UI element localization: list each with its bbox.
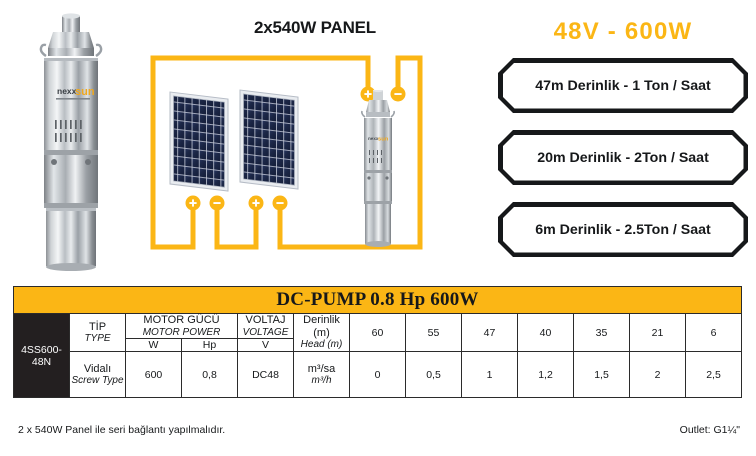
diagram-pump-illustration: nexx sun (358, 90, 398, 250)
flow-value-1: 0 (350, 352, 406, 398)
flow-value-2: 0,5 (406, 352, 462, 398)
spec-table-wrap: DC-PUMP 0.8 Hp 600W 4SS600-48N TİP TYPE … (13, 286, 742, 398)
head-value-4: 40 (518, 314, 574, 352)
svg-text:nexx: nexx (57, 86, 77, 96)
row-type-en: Screw Type (70, 375, 125, 387)
col-head-tr: Derinlik (m) (294, 314, 349, 339)
spec-badge-2: 20m Derinlik - 2Ton / Saat (498, 130, 748, 185)
head-value-6: 21 (630, 314, 686, 352)
head-value-3: 47 (462, 314, 518, 352)
flow-value-7: 2,5 (686, 352, 742, 398)
poster-root: nexx sun 2x540W (0, 0, 756, 456)
footer-outlet: Outlet: G1¼" (680, 424, 740, 436)
spec-badge-3: 6m Derinlik - 2.5Ton / Saat (498, 202, 748, 257)
value-hp: 0,8 (182, 352, 238, 398)
flow-unit-tr: m³/sa (294, 363, 349, 376)
col-voltage-en: VOLTAGE (238, 327, 293, 339)
footer: 2 x 540W Panel ile seri bağlantı yapılma… (13, 424, 742, 444)
head-value-5: 35 (574, 314, 630, 352)
solar-panel-pair (168, 88, 308, 203)
svg-text:sun: sun (75, 86, 95, 98)
spec-table: DC-PUMP 0.8 Hp 600W 4SS600-48N TİP TYPE … (13, 286, 742, 398)
flow-unit: m³/sa m³/h (294, 352, 350, 398)
head-value-2: 55 (406, 314, 462, 352)
wiring-diagram: 2x540W PANEL (130, 0, 500, 272)
flow-value-6: 2 (630, 352, 686, 398)
unit-watt: W (126, 339, 182, 352)
col-voltage-tr: VOLTAJ (238, 314, 293, 327)
row-type: Vidalı Screw Type (70, 352, 126, 398)
head-value-1: 60 (350, 314, 406, 352)
col-type: TİP TYPE (70, 314, 126, 352)
col-motor-en: MOTOR POWER (126, 327, 237, 339)
spec-badge-1: 47m Derinlik - 1 Ton / Saat (498, 58, 748, 113)
spec-badge-2-label: 20m Derinlik - 2Ton / Saat (503, 135, 744, 181)
value-watt: 600 (126, 352, 182, 398)
col-motor-tr: MOTOR GÜCÜ (126, 314, 237, 327)
col-type-en: TYPE (70, 333, 125, 345)
value-voltage: DC48 (238, 352, 294, 398)
model-code: 4SS600-48N (14, 314, 70, 398)
col-motor-power: MOTOR GÜCÜ MOTOR POWER (126, 314, 238, 339)
col-voltage: VOLTAJ VOLTAGE (238, 314, 294, 339)
table-row-headings: 4SS600-48N TİP TYPE MOTOR GÜCÜ MOTOR POW… (14, 314, 742, 339)
spec-badge-1-label: 47m Derinlik - 1 Ton / Saat (503, 63, 744, 109)
spec-panel: 48V - 600W 47m Derinlik - 1 Ton / Saat 2… (492, 0, 754, 272)
flow-value-5: 1,5 (574, 352, 630, 398)
col-head: Derinlik (m) Head (m) (294, 314, 350, 352)
col-type-tr: TİP (70, 321, 125, 334)
table-header-row: DC-PUMP 0.8 Hp 600W (14, 287, 742, 314)
flow-value-3: 1 (462, 352, 518, 398)
svg-text:sun: sun (378, 137, 389, 143)
col-head-en: Head (m) (294, 339, 349, 351)
unit-volt: V (238, 339, 294, 352)
row-type-tr: Vidalı (70, 363, 125, 376)
pump-product-photo: nexx sun (26, 10, 116, 278)
flow-unit-en: m³/h (294, 375, 349, 387)
table-title: DC-PUMP 0.8 Hp 600W (14, 287, 742, 314)
spec-badge-3-label: 6m Derinlik - 2.5Ton / Saat (503, 207, 744, 253)
table-row-values: Vidalı Screw Type 600 0,8 DC48 m³/sa m³/… (14, 352, 742, 398)
head-value-7: 6 (686, 314, 742, 352)
unit-hp: Hp (182, 339, 238, 352)
flow-value-4: 1,2 (518, 352, 574, 398)
spec-title: 48V - 600W (492, 18, 754, 46)
footer-note: 2 x 540W Panel ile seri bağlantı yapılma… (18, 424, 225, 436)
